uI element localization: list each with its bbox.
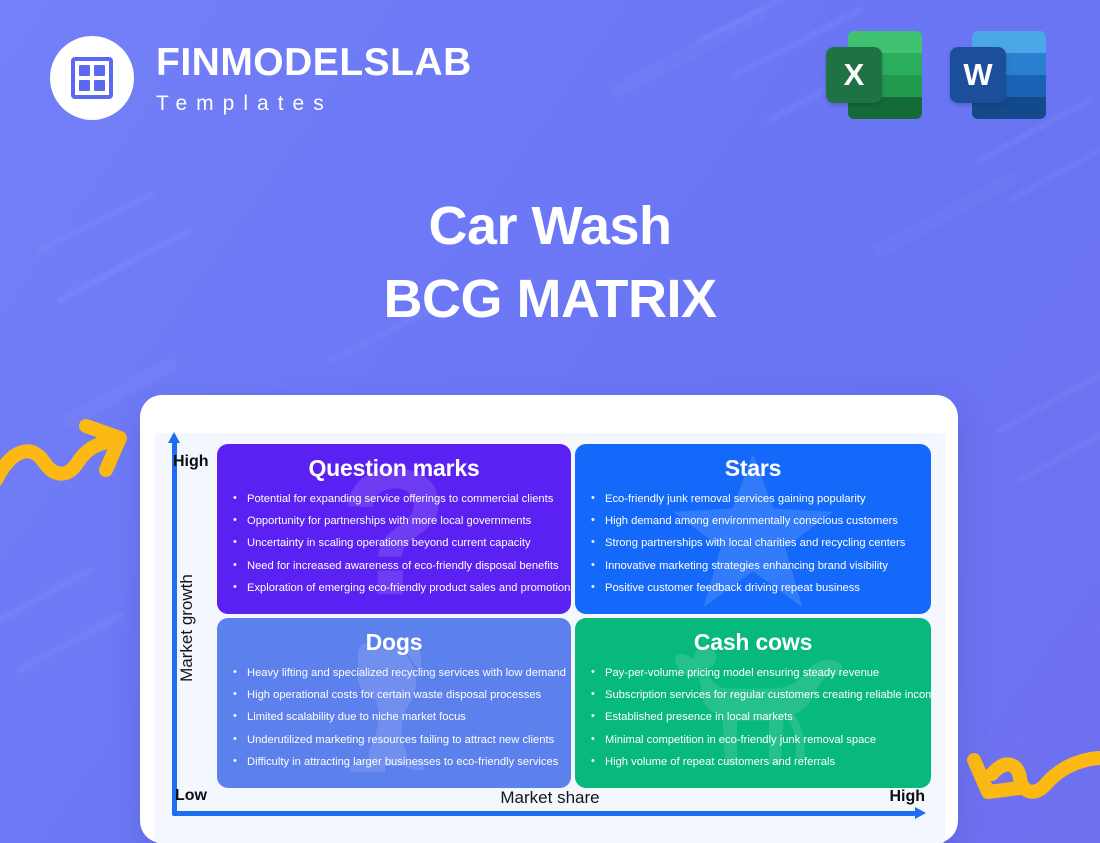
x-axis-title: Market share: [155, 788, 945, 808]
quadrant-bullet-list: Pay-per-volume pricing model ensuring st…: [575, 668, 931, 768]
list-item: High demand among environmentally consci…: [591, 516, 917, 527]
quadrant-question-marks[interactable]: ? Question marks Potential for expanding…: [217, 444, 571, 614]
brand-subtitle: Templates: [156, 93, 472, 114]
squiggle-arrow-down-left-icon: [958, 740, 1100, 840]
list-item: High volume of repeat customers and refe…: [591, 757, 917, 768]
list-item: High operational costs for certain waste…: [233, 690, 557, 701]
brand-logo: FINMODELSLAB Templates: [50, 36, 472, 120]
list-item: Positive customer feedback driving repea…: [591, 583, 917, 594]
quadrant-title: Cash cows: [575, 618, 931, 656]
y-axis-title: Market growth: [177, 558, 197, 698]
list-item: Difficulty in attracting larger business…: [233, 757, 557, 768]
bcg-matrix: High Low Market growth Market share High…: [155, 433, 945, 843]
list-item: Exploration of emerging eco-friendly pro…: [233, 583, 557, 594]
excel-icon: X: [826, 27, 922, 123]
quadrant-cash-cows[interactable]: Cash cows Pay-per-volume pricing model e…: [575, 618, 931, 788]
list-item: Opportunity for partnerships with more l…: [233, 516, 557, 527]
y-axis-arrowhead-icon: [168, 432, 180, 443]
quadrant-title: Question marks: [217, 444, 571, 482]
x-axis-line: [172, 811, 917, 816]
list-item: Heavy lifting and specialized recycling …: [233, 668, 557, 679]
x-axis-high-label: High: [889, 788, 925, 806]
list-item: Potential for expanding service offering…: [233, 494, 557, 505]
poster-canvas: FINMODELSLAB Templates X W Car Wash: [0, 0, 1100, 843]
quadrant-title: Stars: [575, 444, 931, 482]
list-item: Need for increased awareness of eco-frie…: [233, 561, 557, 572]
list-item: Eco-friendly junk removal services gaini…: [591, 494, 917, 505]
quadrant-bullet-list: Potential for expanding service offering…: [217, 494, 571, 594]
list-item: Strong partnerships with local charities…: [591, 538, 917, 549]
brand-name: FINMODELSLAB: [156, 43, 472, 82]
list-item: Innovative marketing strategies enhancin…: [591, 561, 917, 572]
format-badges: X W: [826, 27, 1046, 123]
list-item: Uncertainty in scaling operations beyond…: [233, 538, 557, 549]
quadrant-title: Dogs: [217, 618, 571, 656]
quadrant-dogs[interactable]: Dogs Heavy lifting and specialized recyc…: [217, 618, 571, 788]
page-subtitle: BCG MATRIX: [0, 268, 1100, 330]
list-item: Subscription services for regular custom…: [591, 690, 917, 701]
y-axis-high-label: High: [173, 453, 209, 471]
excel-letter-tile: X: [826, 47, 882, 103]
quadrant-bullet-list: Heavy lifting and specialized recycling …: [217, 668, 571, 768]
quadrant-bullet-list: Eco-friendly junk removal services gaini…: [575, 494, 931, 594]
page-title: Car Wash: [0, 195, 1100, 257]
grid-squares-icon: [71, 57, 113, 99]
list-item: Established presence in local markets: [591, 712, 917, 723]
squiggle-arrow-up-right-icon: [0, 404, 134, 499]
word-icon: W: [950, 27, 1046, 123]
word-letter-tile: W: [950, 47, 1006, 103]
list-item: Underutilized marketing resources failin…: [233, 735, 557, 746]
x-axis-arrowhead-icon: [915, 807, 926, 819]
brand-text: FINMODELSLAB Templates: [156, 43, 472, 114]
quadrant-stars[interactable]: Stars Eco-friendly junk removal services…: [575, 444, 931, 614]
list-item: Minimal competition in eco-friendly junk…: [591, 735, 917, 746]
list-item: Pay-per-volume pricing model ensuring st…: [591, 668, 917, 679]
list-item: Limited scalability due to niche market …: [233, 712, 557, 723]
logo-circle: [50, 36, 134, 120]
